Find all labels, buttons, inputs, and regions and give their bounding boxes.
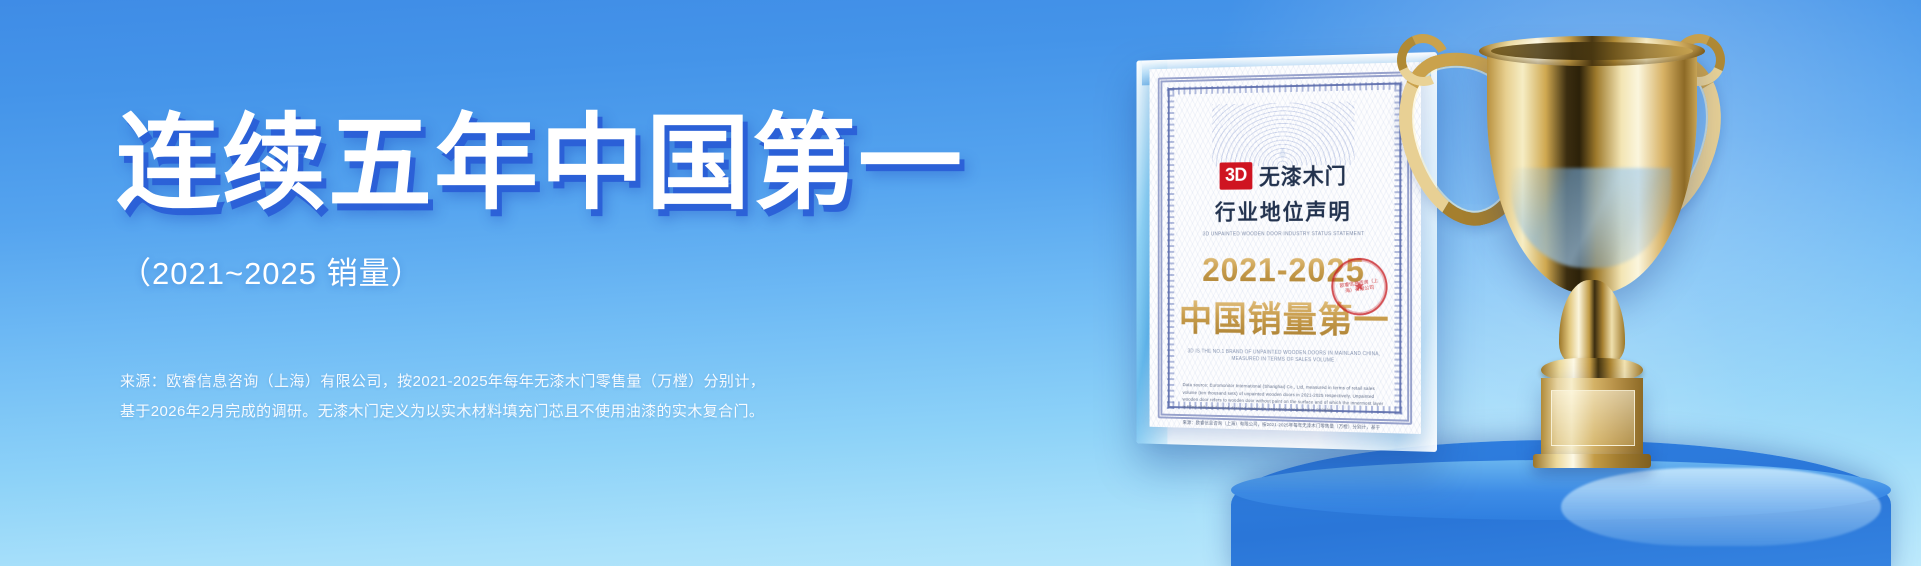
- footnote: 来源：欧睿信息咨询（上海）有限公司，按2021-2025年每年无漆木门零售量（万…: [120, 367, 765, 427]
- trophy-cup-rim-inner: [1491, 42, 1693, 60]
- gold-trophy-icon: [1391, 18, 1811, 488]
- subheadline: （2021~2025 销量）: [120, 248, 423, 293]
- seal-star-icon: ★: [1353, 283, 1365, 290]
- footnote-line-1: 来源：欧睿信息咨询（上海）有限公司，按2021-2025年每年无漆木门零售量（万…: [120, 367, 765, 397]
- copy-block: 连续五年中国第一 （2021~2025 销量） 来源：欧睿信息咨询（上海）有限公…: [116, 0, 1116, 566]
- trophy-stem: [1559, 280, 1625, 366]
- trophy-foot: [1533, 454, 1651, 468]
- certificate-brand-row: 3D 无漆木门: [1219, 159, 1346, 192]
- trophy-base-nameplate: [1551, 390, 1635, 446]
- award-product-group: 3D 无漆木门 行业地位声明 3D UNPAINTED WOODEN DOOR …: [1091, 0, 1921, 566]
- headline: 连续五年中国第一: [116, 112, 964, 216]
- certificate-claim-english: 3D IS THE NO.1 BRAND OF UNPAINTED WOODEN…: [1187, 348, 1382, 365]
- footnote-line-2: 基于2026年2月完成的调研。无漆木门定义为以实木材料填充门芯且不使用油漆的实木…: [120, 397, 765, 427]
- brand-logo-3d: 3D: [1219, 162, 1252, 190]
- certificate-statement-english: 3D UNPAINTED WOODEN DOOR INDUSTRY STATUS…: [1203, 231, 1364, 238]
- certificate-fineprint-english: Data source: Euromonitor International (…: [1183, 381, 1386, 415]
- promo-banner: 连续五年中国第一 （2021~2025 销量） 来源：欧睿信息咨询（上海）有限公…: [0, 0, 1921, 566]
- trophy-cup-bowl: [1487, 44, 1697, 294]
- award-certificate: 3D 无漆木门 行业地位声明 3D UNPAINTED WOODEN DOOR …: [1150, 62, 1421, 434]
- certificate-content: 3D 无漆木门 行业地位声明 3D UNPAINTED WOODEN DOOR …: [1150, 62, 1421, 434]
- certificate-brand-name: 无漆木门: [1259, 159, 1347, 191]
- certificate-statement-title: 行业地位声明: [1215, 195, 1352, 227]
